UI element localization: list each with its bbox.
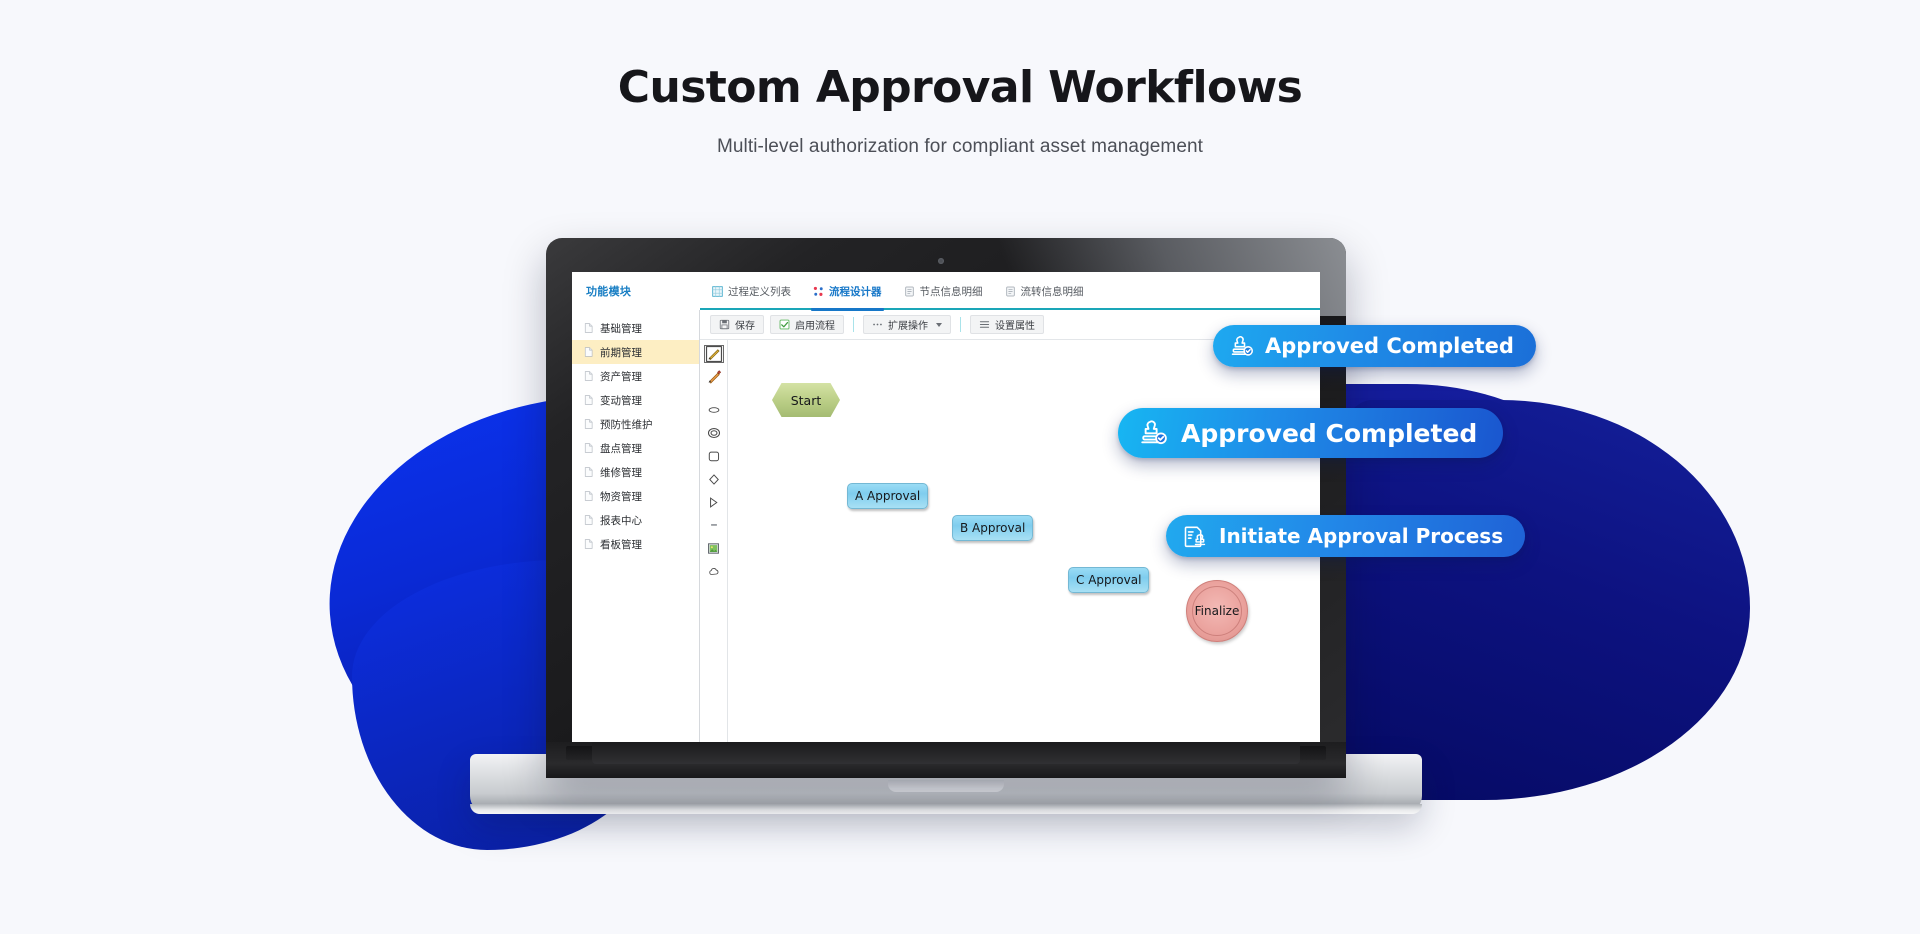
sidebar-item-9[interactable]: 报表中心: [572, 508, 699, 532]
sidebar-item-label: 资产管理: [600, 369, 642, 384]
palette-triangle-icon[interactable]: [705, 494, 723, 510]
tab-4[interactable]: 流转信息明细: [1005, 284, 1084, 299]
doc-icon: [584, 466, 594, 478]
doc-icon: [584, 514, 594, 526]
flow-node-b-approval[interactable]: B Approval: [952, 515, 1033, 541]
stamp-check-icon: [1229, 334, 1254, 359]
toolbar-button-label: 扩展操作: [888, 317, 928, 332]
document-stamp-icon: [1183, 524, 1208, 549]
sidebar-item-label: 盘点管理: [600, 441, 642, 456]
tab-3[interactable]: 节点信息明细: [904, 284, 983, 299]
doc-icon: [584, 538, 594, 550]
sidebar-item-label: 变动管理: [600, 393, 642, 408]
laptop-camera-icon: [938, 258, 944, 264]
palette-select-cursor-icon[interactable]: [705, 346, 723, 362]
flow-node-a-approval[interactable]: A Approval: [847, 483, 928, 509]
palette-rounded-rect-icon[interactable]: [705, 448, 723, 464]
pencil-icon: [706, 369, 722, 385]
nodes-icon: [813, 286, 824, 297]
header-divider: [700, 308, 1320, 310]
tab-label: 节点信息明细: [920, 284, 983, 299]
tab-bar: 过程定义列表流程设计器节点信息明细流转信息明细: [700, 272, 1320, 310]
toolbar-button-1[interactable]: 保存: [710, 315, 764, 334]
laptop-base-notch: [888, 780, 1004, 792]
laptop-screen: 功能模块 过程定义列表流程设计器节点信息明细流转信息明细 基础管理前期管理资产管…: [572, 272, 1320, 742]
double-circle-icon: [706, 426, 722, 440]
palette-double-circle-icon[interactable]: [705, 425, 723, 441]
shape-palette: [700, 340, 728, 742]
ellipse-icon: [706, 404, 722, 416]
doc-icon: [584, 322, 594, 334]
list-icon: [1005, 286, 1016, 297]
background-blob-right: [1320, 400, 1750, 800]
diamond-icon: [707, 473, 721, 486]
palette-diamond-icon[interactable]: [705, 471, 723, 487]
doc-icon: [584, 370, 594, 382]
sidebar-item-10[interactable]: 看板管理: [572, 532, 699, 556]
page-root: Custom Approval Workflows Multi-level au…: [0, 0, 1920, 934]
sidebar-item-6[interactable]: 盘点管理: [572, 436, 699, 460]
badge-label: Approved Completed: [1181, 419, 1477, 448]
badge-initiate-approval-process[interactable]: Initiate Approval Process: [1166, 515, 1525, 557]
stamp-check-icon: [1138, 418, 1168, 448]
toolbar-button-label: 启用流程: [795, 317, 835, 332]
toolbar-button-2[interactable]: 启用流程: [770, 315, 844, 334]
select-cursor-icon: [706, 346, 722, 362]
sidebar-item-7[interactable]: 维修管理: [572, 460, 699, 484]
page-subtitle: Multi-level authorization for compliant …: [0, 136, 1920, 158]
palette-image-icon[interactable]: [705, 540, 723, 556]
palette-pencil-icon[interactable]: [705, 369, 723, 385]
toolbar-button-label: 保存: [735, 317, 755, 332]
sidebar-item-2[interactable]: 前期管理: [572, 340, 699, 364]
toolbar-separator: [960, 317, 961, 332]
doc-icon: [584, 490, 594, 502]
badge-label: Initiate Approval Process: [1219, 524, 1503, 548]
flow-node-finalize[interactable]: Finalize: [1186, 580, 1248, 642]
sidebar-item-label: 维修管理: [600, 465, 642, 480]
doc-icon: [584, 394, 594, 406]
checkbox-icon: [779, 319, 790, 330]
sidebar-item-label: 基础管理: [600, 321, 642, 336]
toolbar-button-3[interactable]: 扩展操作: [863, 315, 951, 334]
sidebar-item-5[interactable]: 预防性维护: [572, 412, 699, 436]
toolbar-button-4[interactable]: 设置属性: [970, 315, 1044, 334]
palette-cloud-icon[interactable]: [705, 563, 723, 579]
ellipsis-icon: [872, 319, 883, 330]
sidebar: 基础管理前期管理资产管理变动管理预防性维护盘点管理维修管理物资管理报表中心看板管…: [572, 310, 700, 742]
page-title: Custom Approval Workflows: [0, 62, 1920, 113]
active-tab-underline: [811, 308, 884, 311]
sidebar-item-1[interactable]: 基础管理: [572, 316, 699, 340]
app-window: 功能模块 过程定义列表流程设计器节点信息明细流转信息明细 基础管理前期管理资产管…: [572, 272, 1320, 742]
badge-approved-completed-2[interactable]: Approved Completed: [1118, 408, 1503, 458]
tab-2[interactable]: 流程设计器: [813, 284, 882, 299]
laptop-base-lip: [470, 804, 1422, 814]
list-icon: [904, 286, 915, 297]
doc-icon: [584, 346, 594, 358]
chevron-down-icon[interactable]: [936, 323, 942, 327]
doc-icon: [584, 442, 594, 454]
tab-label: 流转信息明细: [1021, 284, 1084, 299]
palette-line-icon[interactable]: [705, 517, 723, 533]
sidebar-item-4[interactable]: 变动管理: [572, 388, 699, 412]
sidebar-item-8[interactable]: 物资管理: [572, 484, 699, 508]
line-icon: [707, 521, 721, 529]
flow-node-c-approval[interactable]: C Approval: [1068, 567, 1149, 593]
badge-approved-completed-1[interactable]: Approved Completed: [1213, 325, 1536, 367]
sidebar-item-label: 物资管理: [600, 489, 642, 504]
tab-label: 过程定义列表: [728, 284, 791, 299]
rounded-rect-icon: [707, 450, 721, 463]
laptop-keyboard: [592, 742, 1300, 764]
triangle-icon: [707, 496, 720, 509]
flow-node-start[interactable]: Start: [772, 383, 840, 417]
palette-ellipse-icon[interactable]: [705, 402, 723, 418]
app-header: 功能模块 过程定义列表流程设计器节点信息明细流转信息明细: [572, 272, 1320, 310]
toolbar-separator: [853, 317, 854, 332]
laptop-lid: 功能模块 过程定义列表流程设计器节点信息明细流转信息明细 基础管理前期管理资产管…: [546, 238, 1346, 778]
sidebar-item-label: 看板管理: [600, 537, 642, 552]
doc-icon: [584, 418, 594, 430]
tab-label: 流程设计器: [829, 284, 882, 299]
toolbar-button-label: 设置属性: [995, 317, 1035, 332]
image-icon: [707, 542, 720, 555]
grid-icon: [712, 286, 723, 297]
sidebar-item-label: 预防性维护: [600, 417, 653, 432]
sidebar-header: 功能模块: [572, 272, 700, 310]
save-icon: [719, 319, 730, 330]
hamburger-icon: [979, 319, 990, 330]
sidebar-item-3[interactable]: 资产管理: [572, 364, 699, 388]
cloud-icon: [707, 566, 721, 577]
sidebar-item-label: 报表中心: [600, 513, 642, 528]
sidebar-item-label: 前期管理: [600, 345, 642, 360]
tab-1[interactable]: 过程定义列表: [712, 284, 791, 299]
badge-label: Approved Completed: [1265, 334, 1514, 358]
